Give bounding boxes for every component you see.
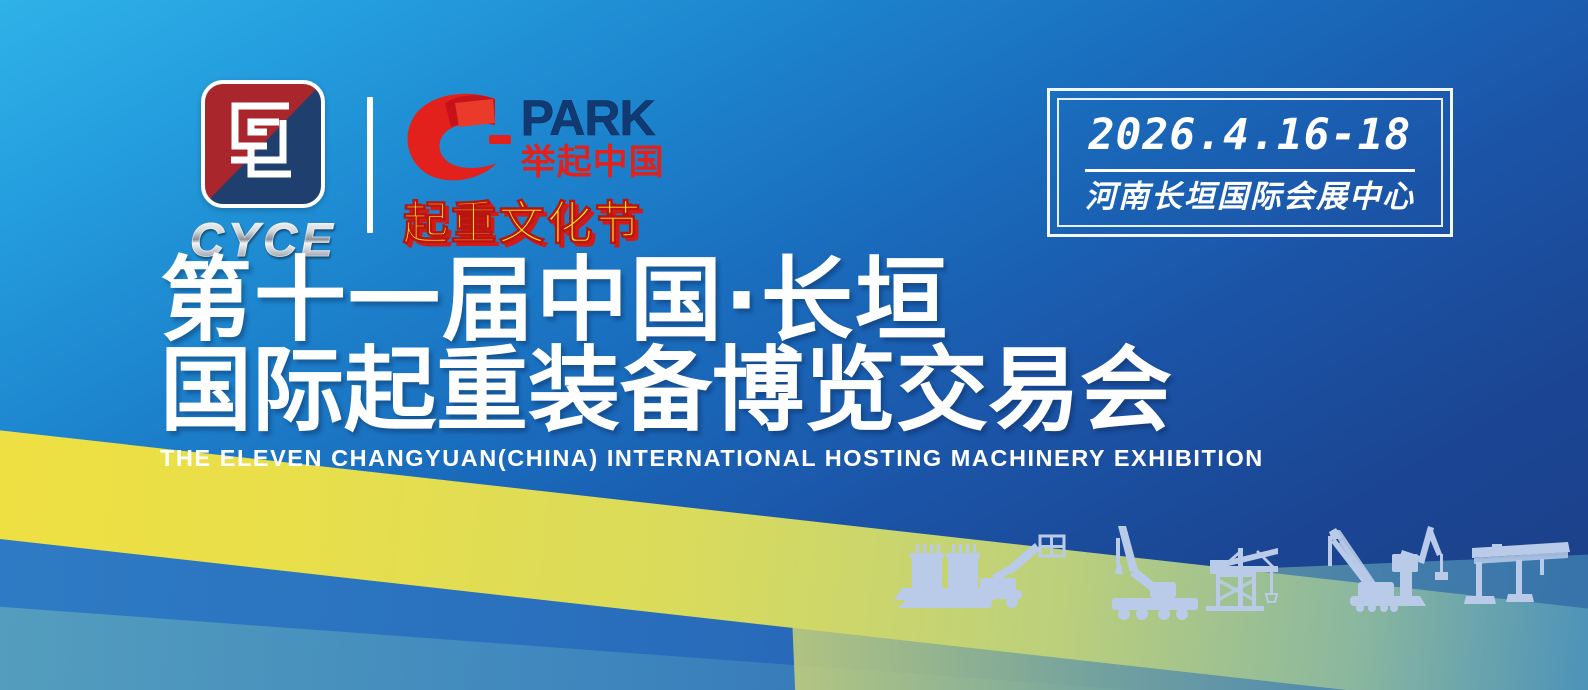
title-line-2: 国际起重装备博览交易会	[160, 348, 1264, 434]
crawler-lattice-crane-icon	[1328, 528, 1402, 612]
logo-cluster: CYCE PARK 举起中国 起重文化节	[190, 80, 665, 263]
festival-name: 起重文化节	[403, 187, 665, 253]
crane-silhouettes-group	[880, 520, 1580, 650]
cyce-logo[interactable]: CYCE	[190, 80, 337, 263]
overhead-bridge-crane-icon	[1464, 542, 1570, 604]
logo-divider	[367, 97, 373, 233]
cyan-ribbon	[0, 453, 1588, 690]
cpark-chinese-slogan: 举起中国	[521, 146, 665, 181]
title-english-subtitle: THE ELEVEN CHANGYUAN(CHINA) INTERNATIONA…	[160, 445, 1264, 472]
cpark-c-mark	[403, 91, 511, 183]
telescopic-boom-lift-icon	[976, 536, 1064, 608]
exhibition-banner: CYCE PARK 举起中国 起重文化节 2026.4.16-18	[0, 0, 1588, 690]
event-venue: 河南长垣国际会展中心	[1085, 182, 1415, 213]
portal-gantry-crane-icon	[1206, 548, 1278, 611]
teal-ribbon	[0, 600, 1588, 690]
title-line-1: 第十一届中国·长垣	[160, 258, 1264, 344]
event-date: 2026.4.16-18	[1089, 114, 1412, 157]
twin-tower-structure-icon	[894, 544, 996, 608]
ground-band	[791, 552, 1588, 690]
date-venue-badge: 2026.4.16-18 河南长垣国际会展中心	[1047, 88, 1453, 237]
blue-ribbon	[0, 520, 1588, 690]
cyce-logo-mark	[201, 80, 325, 208]
truck-mounted-crane-icon	[1112, 526, 1198, 620]
cpark-wordmark: PARK	[521, 93, 665, 143]
badge-divider	[1085, 169, 1415, 172]
cpark-logo[interactable]: PARK 举起中国 起重文化节	[403, 91, 665, 253]
level-luffing-crane-icon	[1386, 526, 1448, 606]
title-block: 第十一届中国·长垣 国际起重装备博览交易会 THE ELEVEN CHANGYU…	[160, 258, 1264, 472]
